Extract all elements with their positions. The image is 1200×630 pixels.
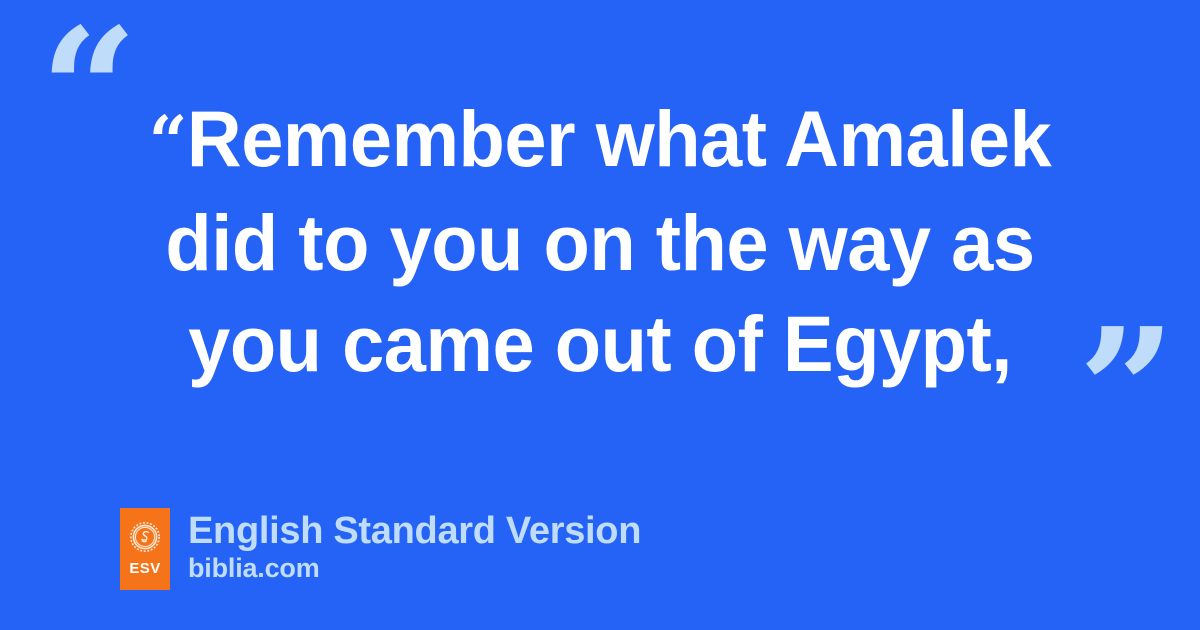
- quote-line-3: you came out of Egypt,: [120, 293, 1080, 394]
- bible-version-name: English Standard Version: [188, 510, 641, 552]
- quote-card: “ ” “Remember what Amalek did to you on …: [0, 0, 1200, 630]
- site-url[interactable]: biblia.com: [188, 552, 641, 584]
- esv-logo-label: ESV: [120, 560, 170, 577]
- inline-open-quote-icon: “: [149, 100, 187, 183]
- attribution-text: English Standard Version biblia.com: [188, 508, 641, 584]
- quote-line-2: did to you on the way as: [120, 192, 1080, 293]
- attribution: ESV English Standard Version biblia.com: [120, 508, 641, 590]
- quote-line-1-text: Remember what Amalek: [187, 94, 1051, 183]
- quote-line-1: “Remember what Amalek: [120, 88, 1080, 192]
- esv-logo-badge: ESV: [120, 508, 170, 590]
- esv-seal-icon: [129, 521, 161, 553]
- quote-text-block: “Remember what Amalek did to you on the …: [100, 88, 1100, 394]
